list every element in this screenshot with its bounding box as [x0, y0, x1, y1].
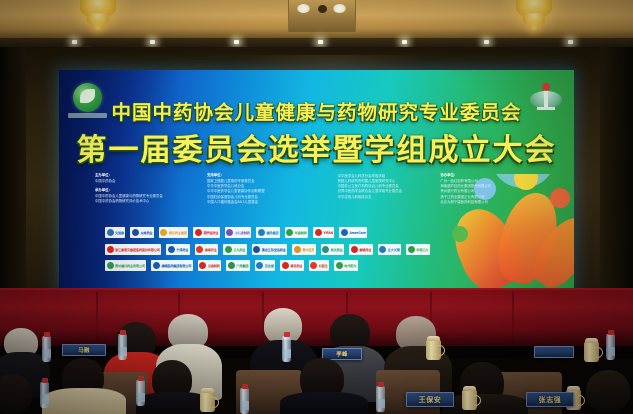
sponsor-logo-mark-icon: [336, 262, 343, 269]
sponsor-logo-label: 时代阳光: [344, 263, 356, 268]
spotlight-icon: [234, 40, 239, 44]
sponsor-logo-mark-icon: [107, 262, 114, 269]
sponsor-logo: 小儿安制药: [225, 227, 251, 238]
sponsor-logo: 康缘医药集团有限公司: [151, 260, 192, 271]
conference-photo: 中国中药协会儿童健康与药物研究专业委员会 第一届委员会选举暨学组成立大会 主办单…: [0, 0, 633, 414]
sponsor-logo-row: 贵州健兴药业有限公司康缘医药集团有限公司汉森制药广药集团百会堂葵花药业好医生时代…: [105, 259, 535, 272]
sponsor-logo-label: 汉森制药: [208, 263, 220, 268]
event-title-line1: 中国中药协会儿童健康与药物研究专业委员会: [59, 96, 574, 125]
spotlight-icon: [150, 40, 155, 44]
wall-edge-left: [0, 47, 26, 302]
sponsor-logo-mark-icon: [258, 229, 265, 236]
water-bottle: [376, 386, 385, 412]
sponsor-logo-mark-icon: [253, 246, 260, 253]
placard-zhang-zhiqiang: 张志强: [526, 392, 574, 407]
sponsor-logo: 贵州百灵: [292, 244, 315, 255]
sponsor-logo-label: 新天药业: [331, 247, 343, 252]
sponsor-logo: 葫芦娃药业: [193, 227, 219, 238]
spotlight-icon: [568, 40, 573, 44]
sponsor-logo-label: 天施康: [115, 230, 124, 235]
audience-person: [586, 370, 630, 412]
ceiling-beam: [0, 38, 633, 47]
sponsor-logo-mark-icon: [107, 246, 114, 253]
sponsor-logo-mark-icon: [294, 246, 301, 253]
water-bottle: [40, 382, 49, 408]
water-bottle: [118, 334, 127, 360]
credits-column-support-2: 中华医学会儿科学分会呼吸学组 首都儿科研究所附属儿童医院研究中心 中国非公立医疗…: [338, 173, 441, 200]
sponsor-logo: 华润三九: [406, 244, 429, 255]
placard-unnamed: [534, 346, 574, 358]
spotlight-icon: [402, 40, 407, 44]
sponsor-logo-mark-icon: [310, 262, 317, 269]
sponsor-logo-label: 贵州百灵: [302, 247, 314, 252]
chandelier-icon: [76, 0, 120, 32]
sponsor-logo: 康缘药业: [349, 244, 372, 255]
sponsor-logo-mark-icon: [282, 262, 289, 269]
sponsor-logo-label: 贵州健兴药业有限公司: [115, 263, 145, 268]
tea-cup-with-lid: [426, 340, 441, 360]
sponsor-logo: 新天药业: [321, 244, 344, 255]
sponsor-logo-mark-icon: [196, 246, 203, 253]
sponsor-logo: AmerCare: [339, 227, 367, 238]
sponsor-logo-label: 华森制药: [295, 230, 307, 235]
event-title-line2: 第一届委员会选举暨学组成立大会: [59, 125, 574, 169]
projector-lamp-icon: [333, 4, 346, 13]
sponsor-logo-mark-icon: [107, 229, 114, 236]
placard-wang-baoan: 王保安: [406, 392, 454, 407]
projector-lens-icon: [318, 5, 327, 13]
sponsor-logo-mark-icon: [379, 246, 386, 253]
sponsor-logo: 葵花药业: [280, 260, 303, 271]
sponsor-logo-row: 天施康以岭药业葵花药业集团葫芦娃药业小儿安制药健民集团华森制药YIFANAmer…: [105, 226, 535, 239]
sponsor-logo-mark-icon: [322, 246, 329, 253]
sponsor-logo-label: 以岭药业: [140, 230, 152, 235]
chandelier-icon: [512, 0, 556, 32]
spotlight-icon: [72, 40, 77, 44]
sponsor-logo-mark-icon: [286, 229, 293, 236]
sponsor-logo-label: AmerCare: [349, 231, 365, 235]
sponsor-logo: YIFAN: [313, 227, 334, 238]
sponsor-logo-label: 葫芦娃药业: [203, 230, 218, 235]
sponsor-logo-mark-icon: [228, 262, 235, 269]
sponsor-logo-mark-icon: [199, 262, 206, 269]
water-bottle: [240, 388, 249, 414]
sponsor-logo-label: 浙江康恩贝集团医药股份有限公司: [115, 247, 160, 252]
audience-person: [0, 374, 32, 414]
sponsor-logo-mark-icon: [341, 229, 348, 236]
sponsor-logo: 好医生: [309, 260, 329, 271]
water-bottle: [136, 380, 145, 406]
sponsor-logo-mark-icon: [315, 229, 322, 236]
sponsor-logo-label: 葵花药业: [290, 263, 302, 268]
sponsor-logo: 正大天晴: [378, 244, 401, 255]
sponsor-logo-label: 康缘药业: [359, 247, 371, 252]
ceiling: [0, 0, 633, 38]
sponsor-logo: 贵州健兴药业有限公司: [105, 260, 146, 271]
led-stage-screen: 中国中药协会儿童健康与药物研究专业委员会 第一届委员会选举暨学组成立大会 主办单…: [59, 70, 574, 290]
sponsor-logo-label: 葵花药业集团: [169, 230, 187, 235]
credits-column-support: 支持单位： 国家卫健委儿童用药专家委员会 中华中医药学会儿科分会 中华中医药学会…: [207, 173, 338, 205]
sponsor-logo-mark-icon: [153, 262, 160, 269]
sponsor-logo-mark-icon: [168, 246, 175, 253]
audience-person: [280, 392, 368, 414]
sponsor-logo-label: 康缘医药集团有限公司: [161, 263, 191, 268]
water-bottle: [42, 336, 51, 362]
sponsor-logo: 浙江康恩贝集团医药股份有限公司: [105, 244, 161, 255]
sponsor-logo: 健民集团: [256, 227, 279, 238]
sponsor-logo: 宁泽药业: [166, 244, 189, 255]
sponsor-logo-mark-icon: [195, 229, 202, 236]
credits-block: 主办单位： 中国中药协会 承办单位： 中国中药协会儿童健康与药物研究专业委员会 …: [95, 173, 543, 205]
sponsor-logo: 三九药业: [223, 244, 246, 255]
sponsor-logo-label: 广药集团: [236, 263, 248, 268]
sponsor-logo-label: 健民集团: [266, 230, 278, 235]
sponsor-logo-mark-icon: [225, 246, 232, 253]
wall-edge-right: [600, 47, 633, 302]
sponsor-logo: 葵花药业集团: [159, 227, 188, 238]
projector-housing: [288, 0, 356, 32]
sponsor-logo-label: 小儿安制药: [235, 230, 250, 235]
sponsor-logo-mark-icon: [226, 229, 233, 236]
sponsor-logo-mark-icon: [408, 246, 415, 253]
sponsor-logo: 百会堂: [255, 260, 275, 271]
credits-column-coorganizer: 协办单位： 广州一品红制药有限公司 海南葫芦娃药业集团股份有限公司 贵州健兴药业…: [440, 173, 543, 205]
sponsor-logo: 黑龙江珍宝岛药业: [252, 244, 287, 255]
sponsor-logo-rows: 天施康以岭药业葵花药业集团葫芦娃药业小儿安制药健民集团华森制药YIFANAmer…: [105, 226, 535, 276]
sponsor-logo: 时代阳光: [334, 260, 357, 271]
sponsor-logo-label: 华润三九: [416, 247, 428, 252]
water-bottle: [282, 336, 291, 362]
credits-column-organizer: 主办单位： 中国中药协会 承办单位： 中国中药协会儿童健康与药物研究专业委员会 …: [95, 173, 207, 204]
sponsor-logo-row: 浙江康恩贝集团医药股份有限公司宁泽药业康缘药业三九药业黑龙江珍宝岛药业贵州百灵新…: [105, 243, 535, 256]
sponsor-logo-mark-icon: [351, 246, 358, 253]
audience-person: [442, 394, 528, 414]
tea-cup-with-lid: [200, 392, 215, 412]
sponsor-logo: 华森制药: [285, 227, 308, 238]
water-bottle: [606, 334, 615, 360]
spotlight-icon: [318, 40, 323, 44]
sponsor-logo-mark-icon: [256, 262, 263, 269]
spotlight-icon: [484, 40, 489, 44]
tea-cup-with-lid: [584, 342, 599, 362]
sponsor-logo-label: 宁泽药业: [176, 247, 188, 252]
tea-cup-with-lid: [462, 390, 477, 410]
sponsor-logo-label: 百会堂: [265, 263, 274, 268]
sponsor-logo: 汉森制药: [198, 260, 221, 271]
sponsor-logo-label: 三九药业: [233, 247, 245, 252]
sponsor-logo: 广药集团: [226, 260, 249, 271]
sponsor-logo-mark-icon: [160, 229, 167, 236]
projector-lamp-icon: [297, 4, 310, 13]
placard-ma-rong: 马融: [62, 344, 106, 356]
sponsor-logo-mark-icon: [132, 229, 139, 236]
sponsor-logo-label: YIFAN: [323, 231, 333, 235]
audience-person: [42, 388, 126, 414]
sponsor-logo: 以岭药业: [130, 227, 153, 238]
sponsor-logo: 天施康: [105, 227, 125, 238]
sponsor-logo-label: 康缘药业: [205, 247, 217, 252]
sponsor-logo-label: 正大天晴: [388, 247, 400, 252]
audience-area: 马融 李峰 王保安 张志强: [0, 300, 633, 414]
sponsor-logo-label: 黑龙江珍宝岛药业: [262, 247, 286, 252]
sponsor-logo: 康缘药业: [195, 244, 218, 255]
sponsor-logo-label: 好医生: [319, 263, 328, 268]
